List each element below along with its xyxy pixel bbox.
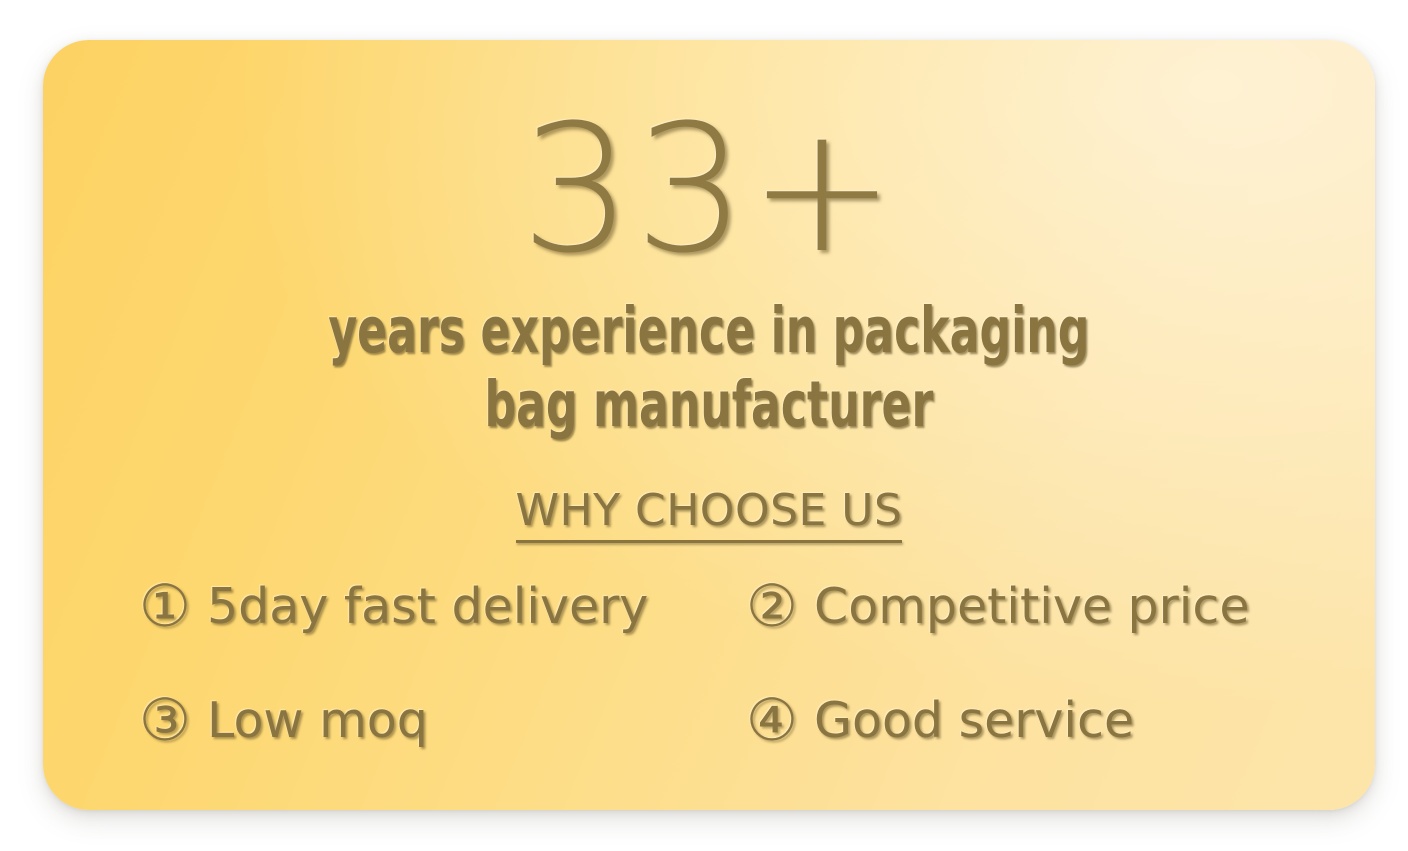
circled-number-4-icon: ④ [746,691,798,749]
page-stage: 33+ years experience in packaging bag ma… [0,0,1408,851]
benefit-label-1: 5day fast delivery [207,581,648,632]
subtitle-line-1: years experience in packaging [328,294,1089,368]
circled-number-1-icon: ① [139,577,191,635]
benefit-item-1: ① 5day fast delivery [139,577,704,635]
benefit-label-2: Competitive price [814,581,1250,632]
benefit-label-3: Low moq [207,695,428,746]
benefits-grid: ① 5day fast delivery ② Competitive price… [139,577,1279,749]
headline-number: 33+ [520,102,897,278]
promo-card: 33+ years experience in packaging bag ma… [43,40,1375,810]
benefit-item-2: ② Competitive price [714,577,1279,635]
benefit-label-4: Good service [814,695,1134,746]
section-heading-why-choose-us: WHY CHOOSE US [516,485,903,543]
circled-number-3-icon: ③ [139,691,191,749]
subtitle: years experience in packaging bag manufa… [328,294,1089,441]
subtitle-line-2: bag manufacturer [328,368,1089,442]
benefit-item-3: ③ Low moq [139,691,704,749]
benefit-item-4: ④ Good service [714,691,1279,749]
circled-number-2-icon: ② [746,577,798,635]
